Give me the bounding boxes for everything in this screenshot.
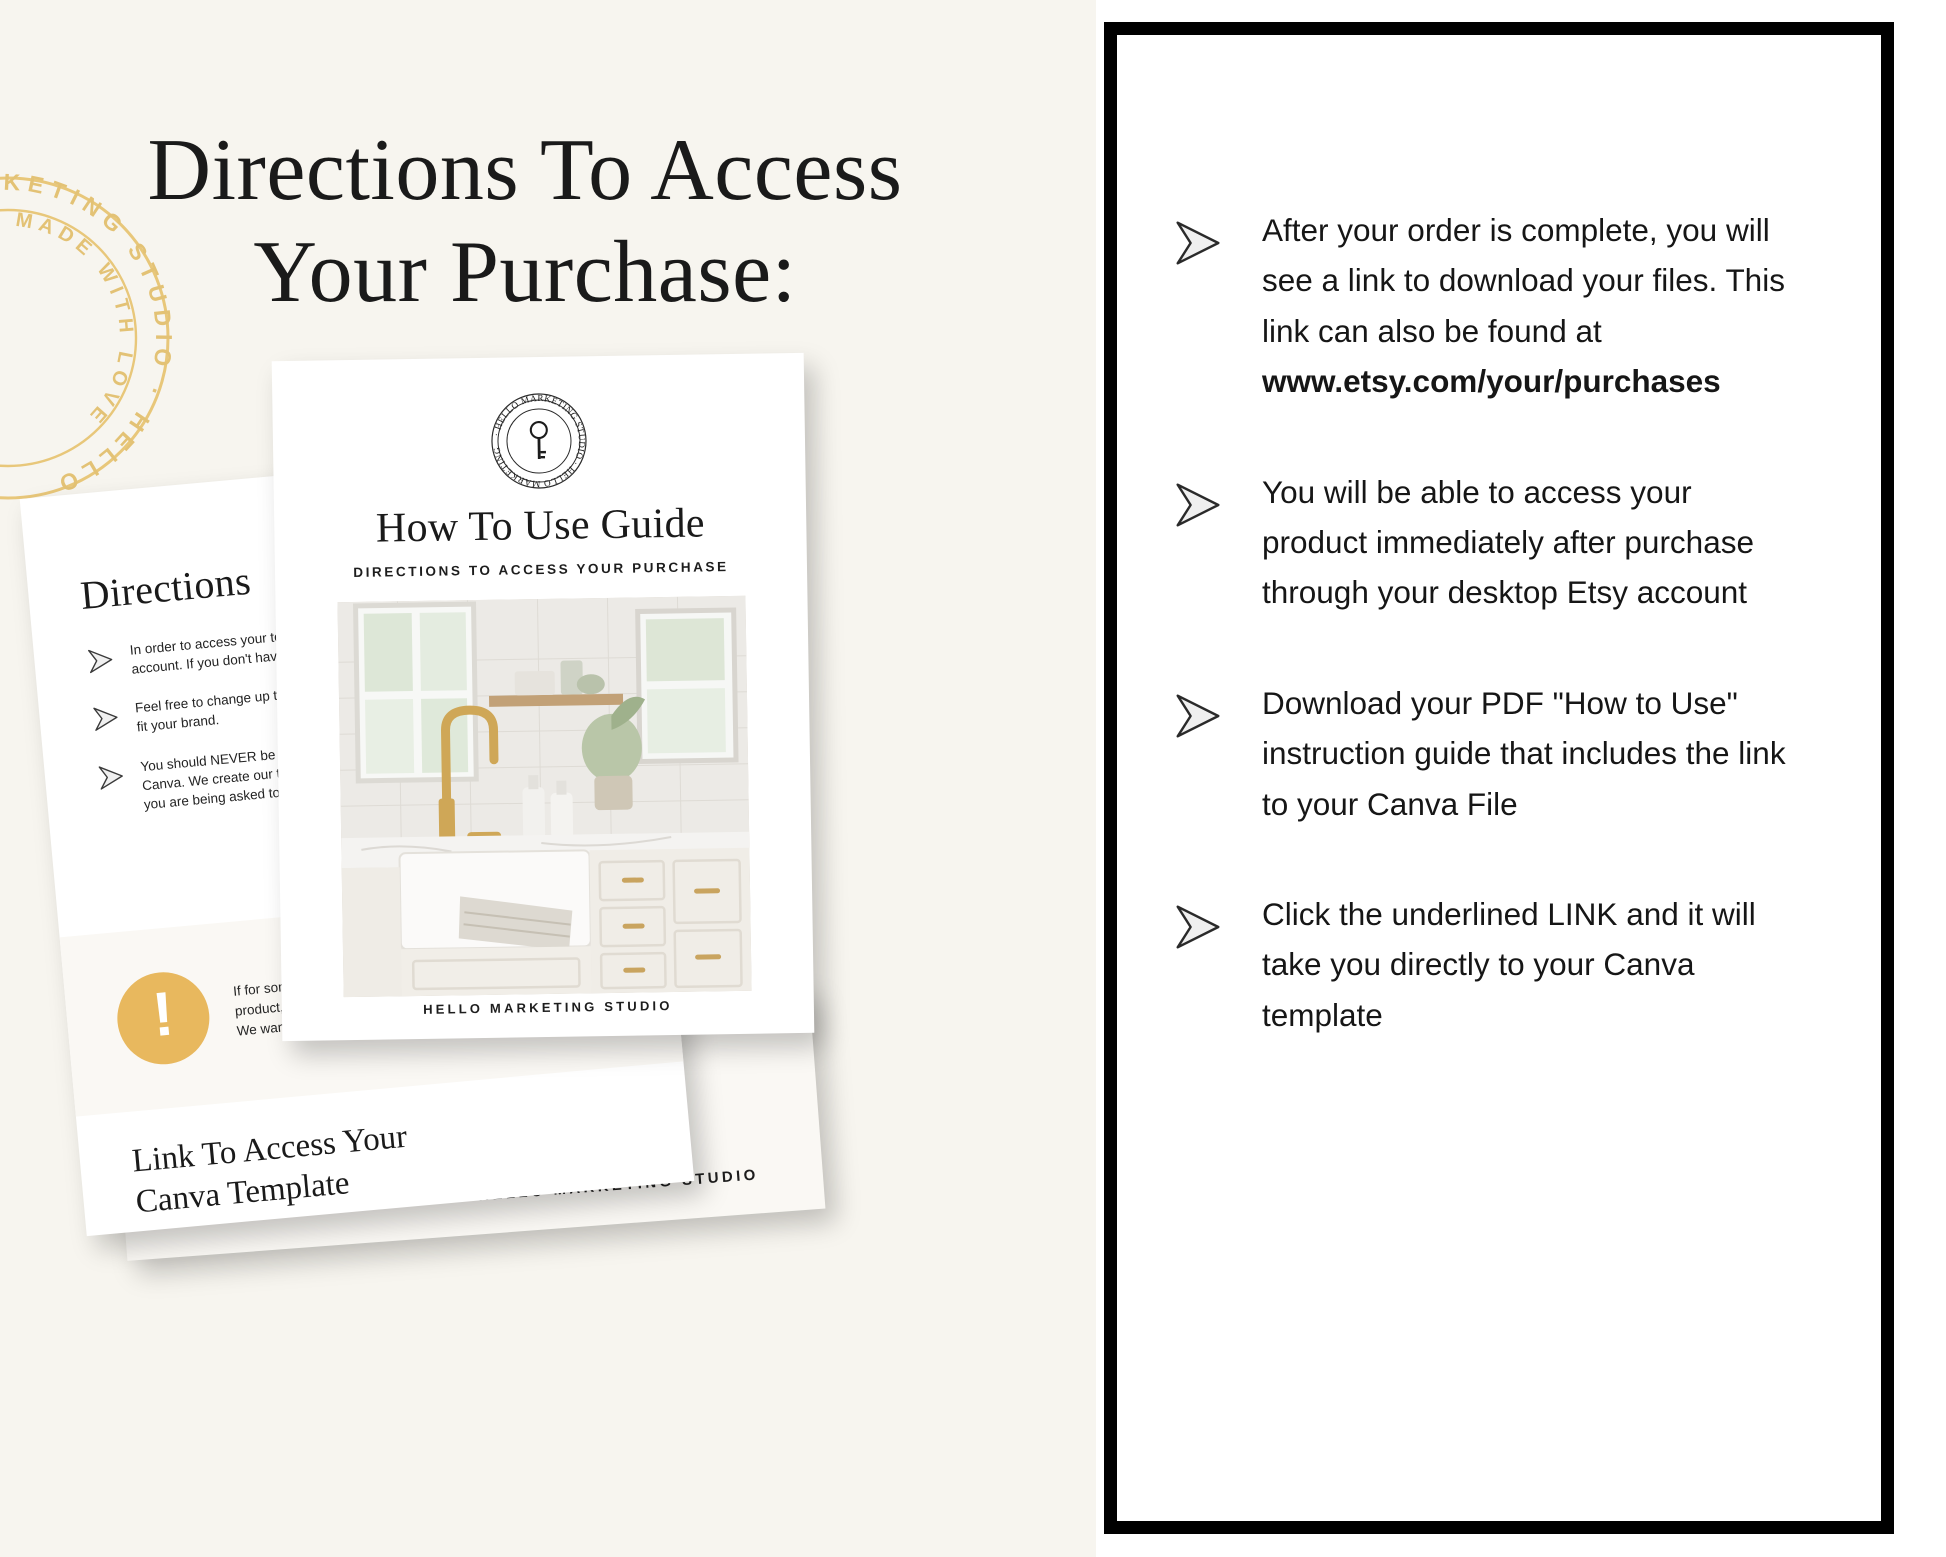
list-item-text: Download your PDF "How to Use" instructi… [1262,678,1802,829]
list-item-body: After your order is complete, you will s… [1262,212,1785,349]
list-item-text: Click the underlined LINK and it will ta… [1262,889,1802,1040]
arrow-bullet-icon [96,762,126,790]
exclamation-glyph: ! [150,983,176,1047]
page-title-line2: Your Purchase: [110,222,940,324]
page-root: HELLO MARKETING STUDIO · HELLO MADE WITH… [0,0,1946,1557]
arrow-bullet-icon [91,704,121,732]
arrow-bullet-icon [1172,903,1224,951]
arrow-bullet-icon [1172,219,1224,267]
list-item: You will be able to access your product … [1172,467,1822,618]
etsy-purchases-url[interactable]: www.etsy.com/your/purchases [1262,363,1721,399]
how-to-use-guide-card: · HELLO MARKETING STUDIO · HELLO MARKETI… [272,353,815,1041]
guide-title: How To Use Guide [274,498,807,554]
kitchen-photo [337,596,751,997]
page-title: Directions To Access Your Purchase: [110,120,940,324]
guide-footer: HELLO MARKETING STUDIO [282,996,814,1019]
page-title-line1: Directions To Access [110,120,940,222]
left-panel: HELLO MARKETING STUDIO · HELLO MADE WITH… [0,0,1096,1557]
instructions-list: After your order is complete, you will s… [1172,205,1822,1100]
list-item-text: You will be able to access your product … [1262,467,1802,618]
list-item: After your order is complete, you will s… [1172,205,1822,407]
guide-subtitle: DIRECTIONS TO ACCESS YOUR PURCHASE [275,558,807,581]
list-item: Click the underlined LINK and it will ta… [1172,889,1822,1040]
arrow-bullet-icon [1172,481,1224,529]
list-item: Download your PDF "How to Use" instructi… [1172,678,1822,829]
arrow-bullet-icon [86,646,116,674]
hello-marketing-studio-logo-icon: · HELLO MARKETING STUDIO · HELLO MARKETI… [486,388,592,494]
key-icon [531,422,548,459]
svg-text:· HELLO MARKETING STUDIO · HEL: · HELLO MARKETING STUDIO · HELLO MARKETI… [486,388,588,490]
list-item-text: After your order is complete, you will s… [1262,205,1802,407]
instructions-frame: After your order is complete, you will s… [1104,22,1894,1534]
right-panel: After your order is complete, you will s… [1096,0,1946,1557]
exclamation-icon: ! [113,968,213,1068]
kitchen-photo-graphic [337,596,751,997]
arrow-bullet-icon [1172,692,1224,740]
